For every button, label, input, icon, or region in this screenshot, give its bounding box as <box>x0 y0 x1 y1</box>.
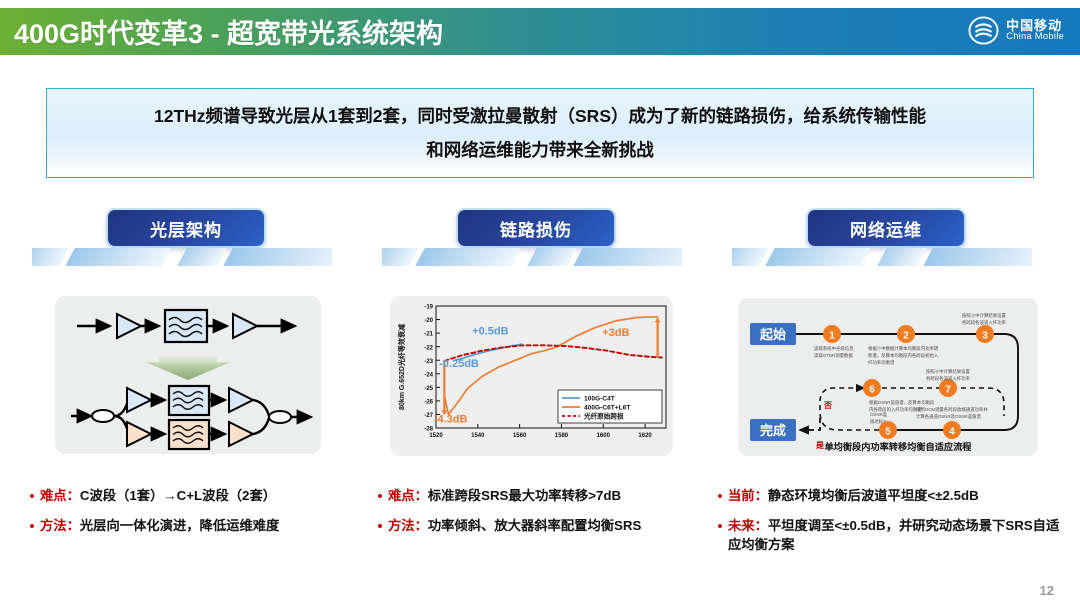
bullet-text: 难点：C波段（1套）→C+L波段（2套） <box>40 487 276 506</box>
summary-callout: 12THz频谱导致光层从1套到2套，同时受激拉曼散射（SRS）成为了新的链路损伤… <box>46 88 1034 178</box>
brand-name-en: China Mobile <box>1006 32 1064 42</box>
bullet-label: 方法： <box>40 518 80 533</box>
svg-text:值达标?: 值达标? <box>870 418 886 425</box>
china-mobile-logo-icon <box>968 15 999 46</box>
bullet-item: • 方法：光层向一体化演进，降低运维难度 <box>24 517 374 536</box>
svg-text:-21: -21 <box>424 332 433 338</box>
brand-logo: 中国移动 China Mobile <box>968 15 1064 46</box>
section-title-pill-3: 网络运维 <box>808 210 964 246</box>
svg-text:根据①中数据计算本均衡段内功率转: 根据①中数据计算本均衡段内功率转 <box>868 345 939 352</box>
svg-text:采用OCM测量各跨段收端通道功率并: 采用OCM测量各跨段收端通道功率并 <box>916 406 988 413</box>
svg-text:读取OTDR测量数据: 读取OTDR测量数据 <box>814 352 853 359</box>
figure-optical-layer-architecture <box>55 296 321 454</box>
evolution-arrow-icon <box>145 348 231 380</box>
svg-text:4: 4 <box>949 427 955 438</box>
svg-text:各跨段各波道入纤功率: 各跨段各波道入纤功率 <box>926 375 971 382</box>
svg-text:-4.3dB: -4.3dB <box>434 414 468 426</box>
section-title-pill-1: 光层架构 <box>108 210 264 246</box>
svg-text:-26: -26 <box>424 399 433 405</box>
svg-text:-27: -27 <box>424 413 433 419</box>
svg-text:光纤原始跨损: 光纤原始跨损 <box>583 411 624 420</box>
bullet-item: • 难点：C波段（1套）→C+L波段（2套） <box>24 487 374 506</box>
dual-band-chain <box>71 386 311 449</box>
bullet-dot-icon: • <box>712 517 728 536</box>
svg-text:80km G.652D光纤等效衰减: 80km G.652D光纤等效衰减 <box>397 324 406 410</box>
section-ribbon-1 <box>32 248 332 266</box>
bullet-label: 当前： <box>728 488 768 503</box>
section-header-2: 链路损伤 <box>382 210 682 266</box>
svg-text:6: 6 <box>869 385 875 396</box>
bullet-text: 当前：静态环境均衡后波道平坦度<±2.5dB <box>728 487 979 506</box>
flow-diagram: 起始 完成 1 2 3 4 5 6 7 读取系统中光缆信息读取OTDR测量数据 … <box>738 298 1038 456</box>
svg-text:-24: -24 <box>424 372 433 378</box>
bullet-dot-icon: • <box>24 517 40 536</box>
page-title: 400G时代变革3 - 超宽带光系统架构 <box>14 12 443 51</box>
svg-text:1620: 1620 <box>638 433 652 439</box>
srs-line-chart: -19-20-21-22-23-24-25-26-27-281520154015… <box>390 296 673 456</box>
svg-text:400G-C6T+L6T: 400G-C6T+L6T <box>584 404 630 411</box>
callout-line-2: 和网络运维能力带来全新挑战 <box>426 133 654 167</box>
svg-text:-23: -23 <box>424 359 433 365</box>
page-number: 12 <box>1040 583 1054 598</box>
section-title-1: 光层架构 <box>150 216 222 241</box>
bullet-text: 方法：功率倾斜、放大器斜率配置均衡SRS <box>388 517 641 536</box>
svg-text:1540: 1540 <box>471 433 485 439</box>
single-band-chain <box>77 310 295 342</box>
svg-text:1: 1 <box>829 331 835 342</box>
flow-end-label: 完成 <box>760 423 786 438</box>
svg-text:各跨段各波道入纤功率: 各跨段各波道入纤功率 <box>962 319 1007 326</box>
bullet-body: 平坦度调至<±0.5dB，并研究动态场景下SRS自适应均衡方案 <box>728 518 1059 552</box>
bullet-body: 功率倾斜、放大器斜率配置均衡SRS <box>428 518 642 533</box>
bullet-body: 标准跨段SRS最大功率转移>7dB <box>428 488 621 503</box>
section-ribbon-3 <box>732 248 1032 266</box>
section-header-3: 网络运维 <box>732 210 1032 266</box>
svg-text:计算各通道OSNR及OSNR差值谱: 计算各通道OSNR及OSNR差值谱 <box>916 413 981 420</box>
bullet-label: 难点： <box>40 488 80 503</box>
svg-text:读取系统中光缆信息: 读取系统中光缆信息 <box>814 345 854 352</box>
flow-branch-no: 否 <box>823 401 832 410</box>
svg-text:移遣，反算本均衡段内各跨段初始入: 移遣，反算本均衡段内各跨段初始入 <box>868 352 939 359</box>
svg-text:根据OSNR差值谱，反算本均衡段: 根据OSNR差值谱，反算本均衡段 <box>869 399 935 406</box>
brand-name-cn: 中国移动 <box>1006 19 1064 33</box>
section-ribbon-2 <box>382 248 682 266</box>
section-header-1: 光层架构 <box>32 210 332 266</box>
figure-adaptive-equalization-flow: 起始 完成 1 2 3 4 5 6 7 读取系统中光缆信息读取OTDR测量数据 … <box>738 298 1038 456</box>
svg-text:1520: 1520 <box>429 433 443 439</box>
section-title-2: 链路损伤 <box>500 216 572 241</box>
bullet-dot-icon: • <box>372 517 388 536</box>
flow-caption: 单均衡段内功率转移均衡自适应流程 <box>825 441 973 452</box>
svg-text:1600: 1600 <box>597 433 611 439</box>
bullet-item: • 当前：静态环境均衡后波道平坦度<±2.5dB <box>712 487 1072 506</box>
bullet-column-1: • 难点：C波段（1套）→C+L波段（2套） • 方法：光层向一体化演进，降低运… <box>24 487 374 547</box>
svg-text:3: 3 <box>982 331 988 342</box>
svg-text:100G-C4T: 100G-C4T <box>584 395 615 402</box>
optical-layer-diagram <box>55 296 321 454</box>
bullet-body: 光层向一体化演进，降低运维难度 <box>80 518 279 533</box>
bullet-body: C波段（1套）→C+L波段（2套） <box>80 488 276 503</box>
section-title-3: 网络运维 <box>850 216 922 241</box>
svg-text:1580: 1580 <box>555 433 569 439</box>
svg-text:-22: -22 <box>424 345 433 351</box>
svg-text:7: 7 <box>945 385 951 396</box>
bullet-label: 未来： <box>728 518 768 533</box>
bullet-text: 难点：标准跨段SRS最大功率转移>7dB <box>388 487 621 506</box>
svg-text:-28: -28 <box>424 427 433 433</box>
svg-text:2: 2 <box>903 331 909 342</box>
bullet-dot-icon: • <box>372 487 388 506</box>
svg-text:OSNR差: OSNR差 <box>870 411 888 417</box>
svg-text:-20: -20 <box>424 318 433 324</box>
bullet-label: 方法： <box>388 518 428 533</box>
svg-text:1560: 1560 <box>513 433 527 439</box>
bullet-item: • 未来：平坦度调至<±0.5dB，并研究动态场景下SRS自适应均衡方案 <box>712 517 1072 555</box>
svg-text:按照⑥中计算结果设置: 按照⑥中计算结果设置 <box>926 368 971 375</box>
bullet-text: 方法：光层向一体化演进，降低运维难度 <box>40 517 279 536</box>
bullet-column-3: • 当前：静态环境均衡后波道平坦度<±2.5dB • 未来：平坦度调至<±0.5… <box>712 487 1072 566</box>
bullet-label: 难点： <box>388 488 428 503</box>
flow-start-label: 起始 <box>759 327 786 342</box>
bullet-dot-icon: • <box>24 487 40 506</box>
bullet-item: • 难点：标准跨段SRS最大功率转移>7dB <box>372 487 722 506</box>
flow-step-circles: 1 2 3 4 5 6 7 <box>823 325 994 439</box>
figure-srs-attenuation-chart: -19-20-21-22-23-24-25-26-27-281520154015… <box>390 296 673 456</box>
bullet-column-2: • 难点：标准跨段SRS最大功率转移>7dB • 方法：功率倾斜、放大器斜率配置… <box>372 487 722 547</box>
callout-line-1: 12THz频谱导致光层从1套到2套，同时受激拉曼散射（SRS）成为了新的链路损伤… <box>154 99 926 133</box>
bullet-body: 静态环境均衡后波道平坦度<±2.5dB <box>768 488 979 503</box>
flow-branch-yes: 是 <box>815 440 824 450</box>
bullet-dot-icon: • <box>712 487 728 506</box>
slide-header: 400G时代变革3 - 超宽带光系统架构 中国移动 China Mobile <box>0 8 1080 55</box>
svg-text:按照②中计算结果设置: 按照②中计算结果设置 <box>962 312 1007 319</box>
svg-text:5: 5 <box>885 427 891 438</box>
bullet-item: • 方法：功率倾斜、放大器斜率配置均衡SRS <box>372 517 722 536</box>
svg-text:-19: -19 <box>424 305 433 311</box>
svg-text:+0.5dB: +0.5dB <box>472 325 508 337</box>
section-title-pill-2: 链路损伤 <box>458 210 614 246</box>
svg-text:-0.25dB: -0.25dB <box>439 358 479 370</box>
svg-text:+3dB: +3dB <box>602 327 629 339</box>
svg-text:-25: -25 <box>424 386 433 392</box>
svg-text:纤功率均衡谱: 纤功率均衡谱 <box>868 359 895 366</box>
bullet-text: 未来：平坦度调至<±0.5dB，并研究动态场景下SRS自适应均衡方案 <box>728 517 1072 555</box>
